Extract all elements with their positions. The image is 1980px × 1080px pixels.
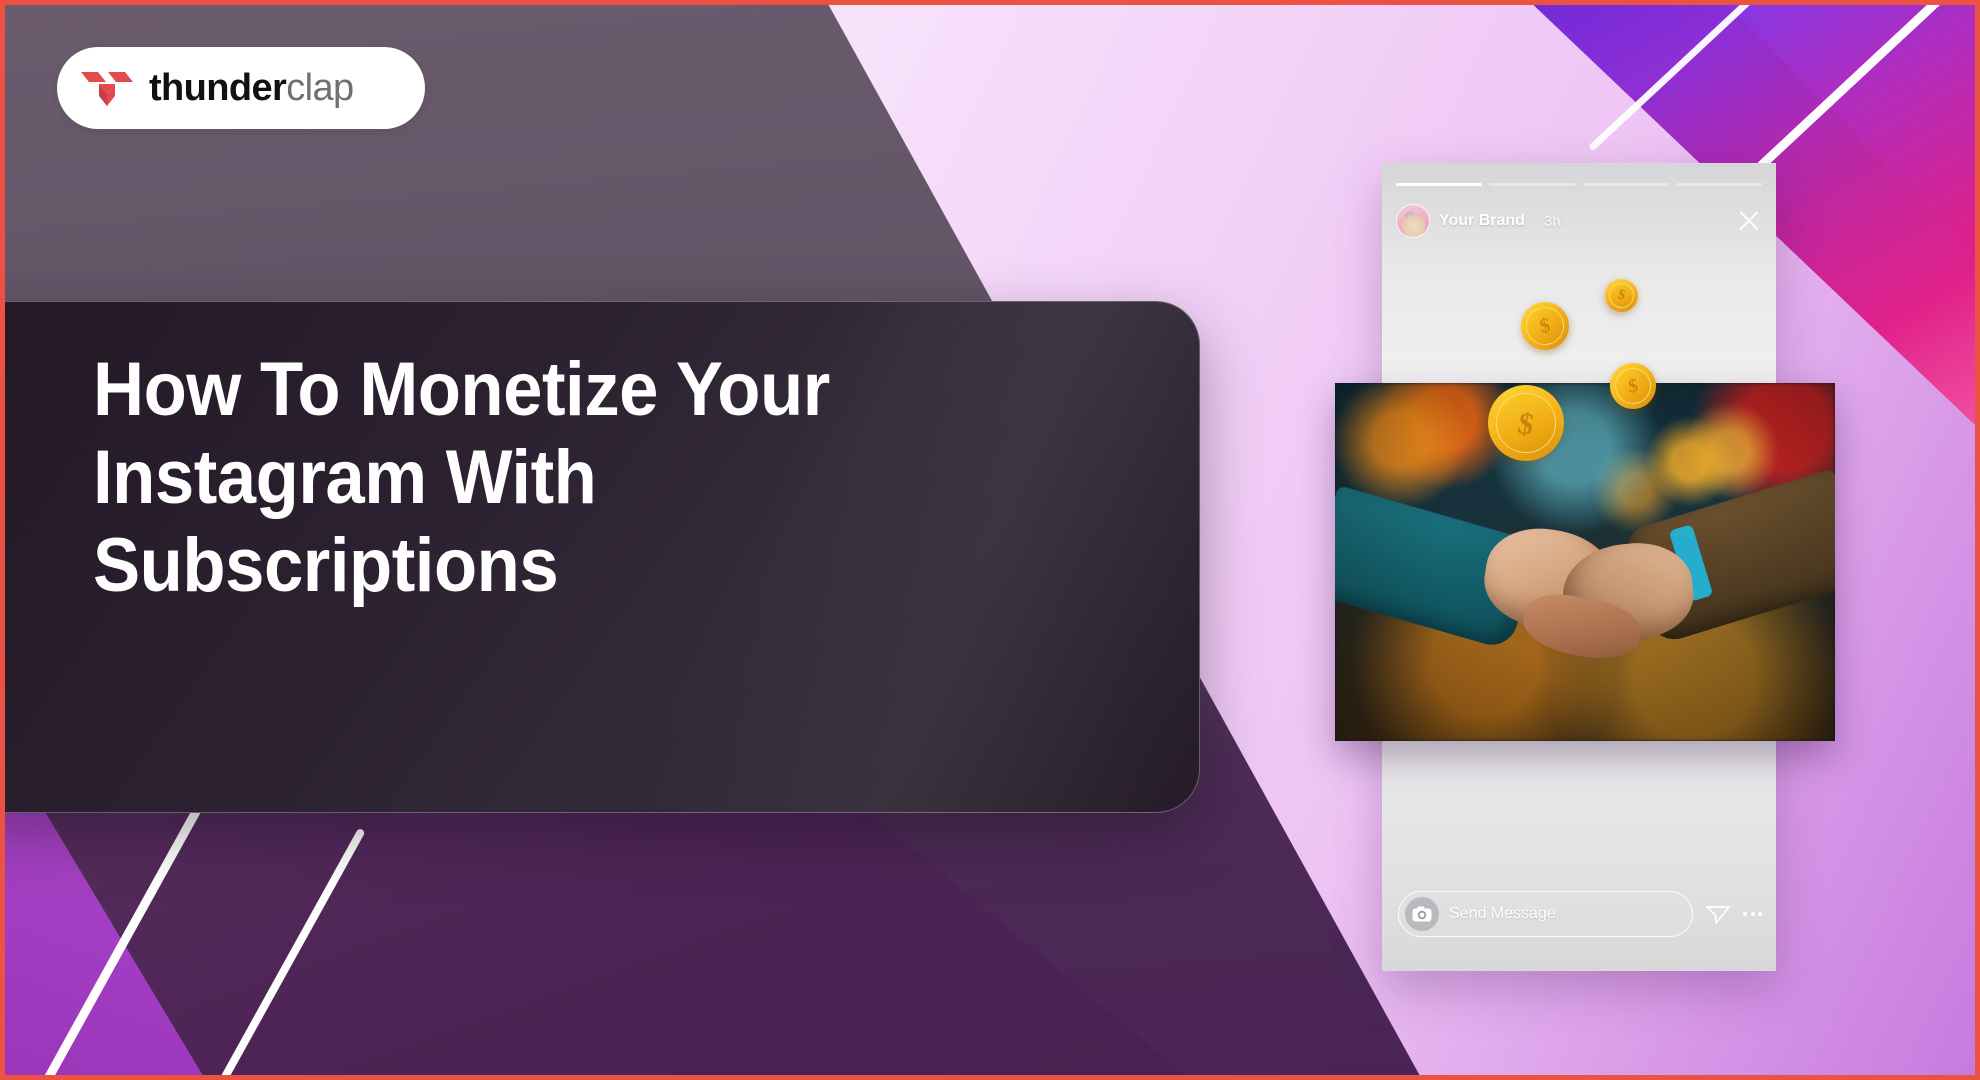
coin-symbol: $ bbox=[1538, 315, 1552, 337]
page-title-line-1: How To Monetize Your bbox=[93, 346, 1023, 434]
headline-card: How To Monetize Your Instagram With Subs… bbox=[0, 301, 1200, 813]
story-progress-segment[interactable] bbox=[1583, 183, 1669, 186]
story-progress-segment[interactable] bbox=[1396, 183, 1482, 186]
camera-icon[interactable] bbox=[1405, 897, 1439, 931]
story-progress-segment[interactable] bbox=[1676, 183, 1762, 186]
story-media-image bbox=[1335, 383, 1835, 741]
close-icon[interactable] bbox=[1736, 208, 1762, 234]
page-title-line-2: Instagram With bbox=[93, 434, 1023, 522]
avatar[interactable] bbox=[1396, 204, 1430, 238]
story-footer: Send Message bbox=[1398, 891, 1762, 937]
story-username[interactable]: Your Brand bbox=[1439, 212, 1525, 230]
story-header: Your Brand 3h bbox=[1396, 199, 1762, 243]
page-title: How To Monetize Your Instagram With Subs… bbox=[93, 346, 1023, 610]
coin-symbol: $ bbox=[1616, 288, 1626, 303]
brand-wordmark-bold: thunder bbox=[149, 67, 286, 109]
poster-canvas: thunderclap How To Monetize Your Instagr… bbox=[0, 0, 1980, 1080]
paper-plane-icon[interactable] bbox=[1705, 901, 1731, 927]
brand-wordmark-light: clap bbox=[286, 67, 353, 109]
coin-symbol: $ bbox=[1627, 376, 1639, 396]
page-title-line-3: Subscriptions bbox=[93, 522, 1023, 610]
thunderclap-arrow-mark-icon bbox=[81, 68, 133, 108]
story-timestamp: 3h bbox=[1544, 213, 1561, 230]
photo-vignette bbox=[1335, 383, 1835, 741]
brand-wordmark: thunderclap bbox=[149, 69, 354, 107]
story-progress-bar[interactable] bbox=[1396, 183, 1762, 187]
brand-logo[interactable]: thunderclap bbox=[57, 47, 425, 129]
send-message-input[interactable]: Send Message bbox=[1398, 891, 1693, 937]
more-options-icon[interactable] bbox=[1743, 912, 1762, 916]
coin-symbol: $ bbox=[1516, 406, 1537, 439]
send-message-placeholder: Send Message bbox=[1449, 905, 1556, 923]
story-progress-segment[interactable] bbox=[1489, 183, 1575, 186]
